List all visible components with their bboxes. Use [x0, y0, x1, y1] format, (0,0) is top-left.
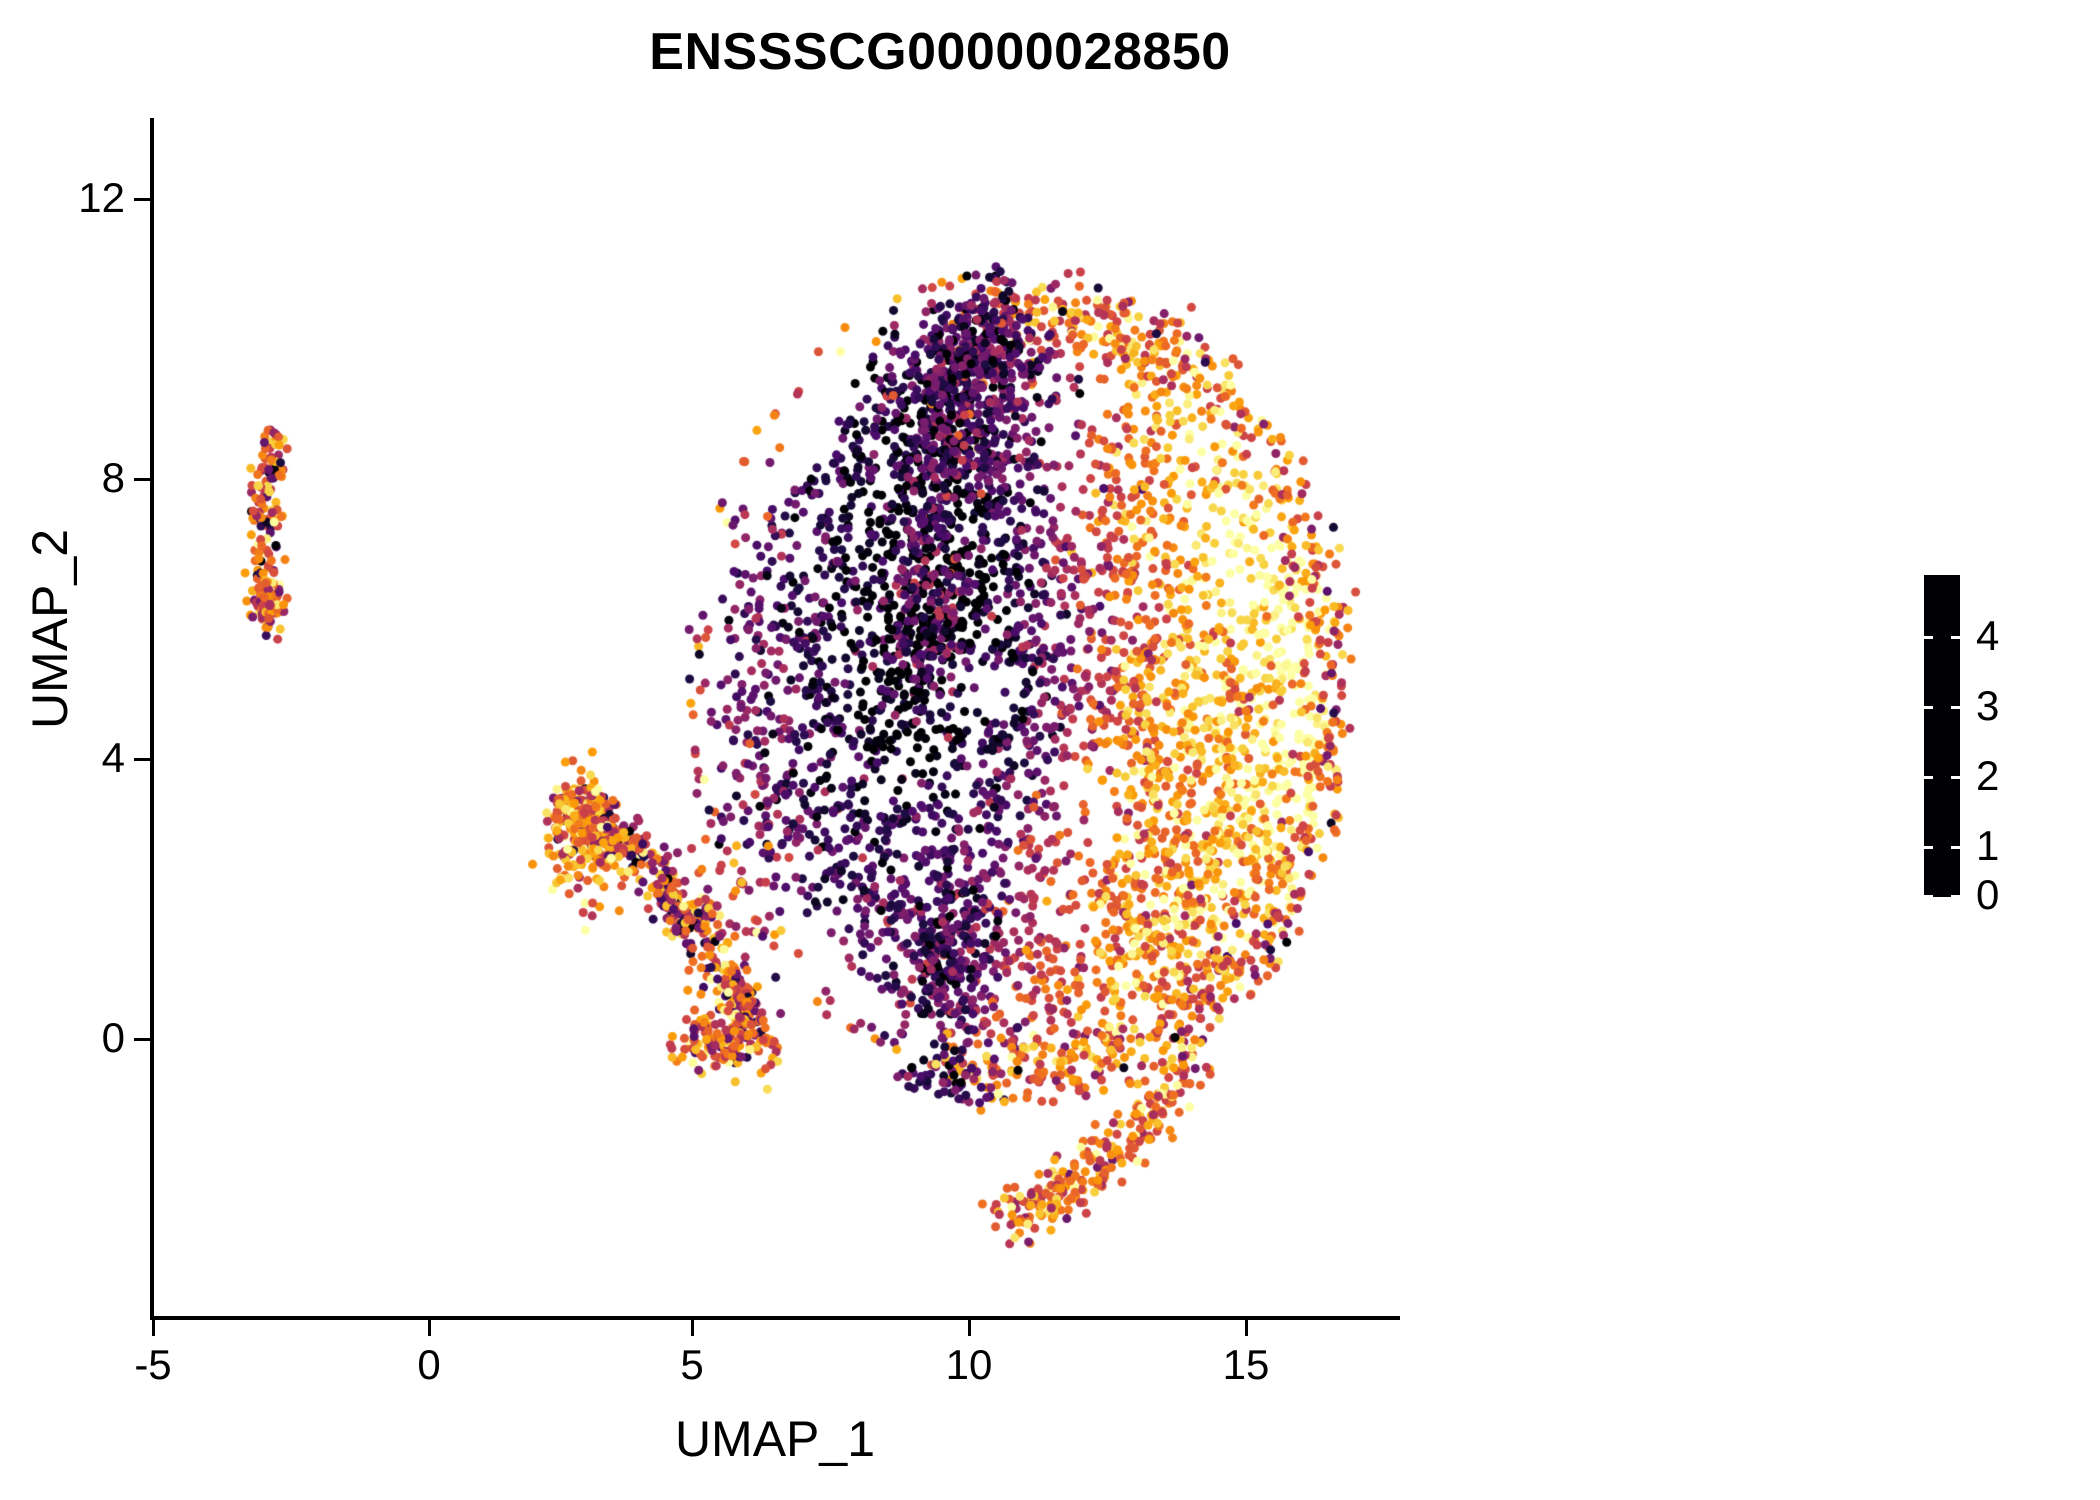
legend-tick-3: [1924, 706, 1960, 709]
x-tick-label-5: 5: [612, 1344, 772, 1386]
umap-feature-plot: ENSSSCG00000028850 12 8 4 0 -5 0 5 10 15…: [0, 0, 2100, 1500]
scatter-points-layer: [152, 118, 1400, 1318]
y-tick-mark-0: [134, 1038, 150, 1041]
x-tick-mark-15: [1245, 1320, 1248, 1336]
page-title: ENSSSCG00000028850: [0, 22, 1880, 82]
plot-panel: [152, 118, 1400, 1318]
legend-label-2: 2: [1976, 755, 2056, 797]
x-axis-line: [150, 1316, 1400, 1320]
legend-label-4: 4: [1976, 615, 2056, 657]
y-tick-mark-4: [134, 758, 150, 761]
x-tick-label-0: 0: [349, 1344, 509, 1386]
x-tick-label-m5: -5: [73, 1344, 233, 1386]
legend-tick-4: [1924, 636, 1960, 639]
color-legend: 4 3 2 1 0: [1924, 575, 2084, 905]
legend-tick-0: [1924, 895, 1960, 898]
x-tick-mark-m5: [152, 1320, 155, 1336]
legend-label-0: 0: [1976, 874, 2056, 916]
x-tick-mark-10: [968, 1320, 971, 1336]
legend-label-1: 1: [1976, 825, 2056, 867]
legend-tick-2: [1924, 776, 1960, 779]
x-tick-mark-5: [691, 1320, 694, 1336]
y-axis-line: [150, 118, 154, 1318]
legend-tick-1: [1924, 846, 1960, 849]
y-axis-title: UMAP_2: [21, 349, 79, 909]
y-tick-mark-12: [134, 198, 150, 201]
x-tick-mark-0: [428, 1320, 431, 1336]
x-tick-label-15: 15: [1166, 1344, 1326, 1386]
y-tick-label-0: 0: [0, 1017, 125, 1059]
y-tick-mark-8: [134, 478, 150, 481]
x-tick-label-10: 10: [889, 1344, 1049, 1386]
x-axis-title: UMAP_1: [150, 1410, 1400, 1468]
legend-label-3: 3: [1976, 685, 2056, 727]
y-tick-label-12: 12: [0, 177, 125, 219]
